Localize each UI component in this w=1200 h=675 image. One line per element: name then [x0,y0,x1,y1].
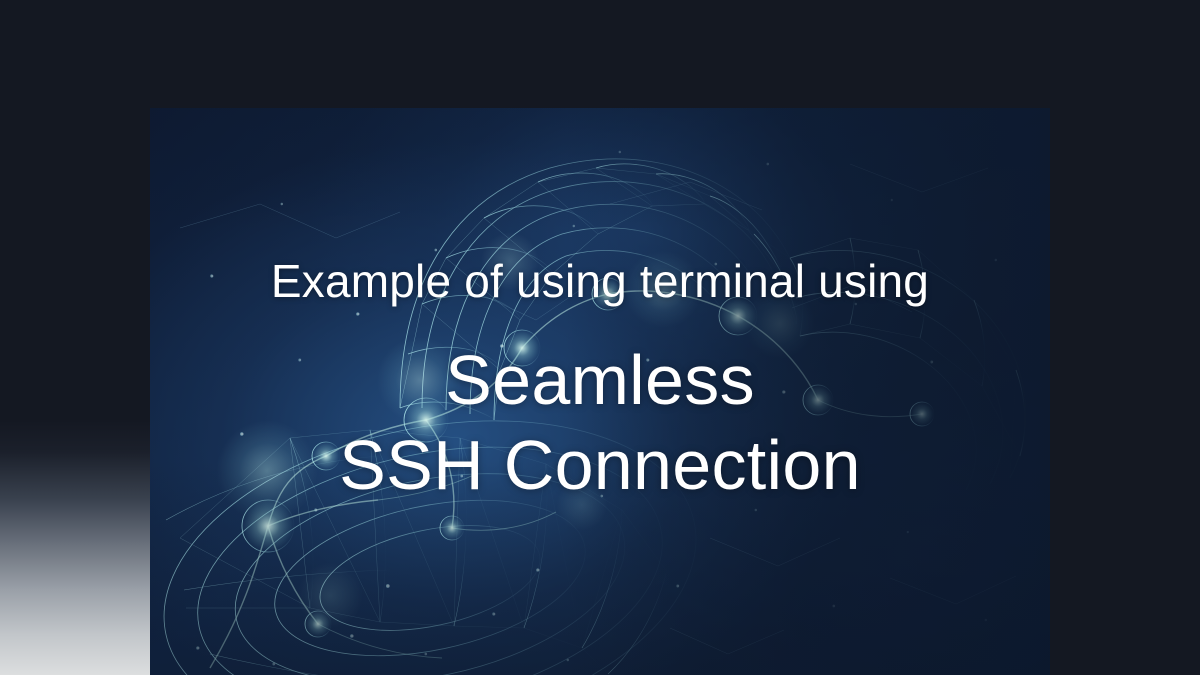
plexus-network-icon [150,108,1050,675]
presentation-slide[interactable]: Example of using terminal using Seamless… [150,108,1050,675]
screenshot-canvas: Example of using terminal using Seamless… [0,0,1200,675]
left-gradient-strip [0,0,150,675]
